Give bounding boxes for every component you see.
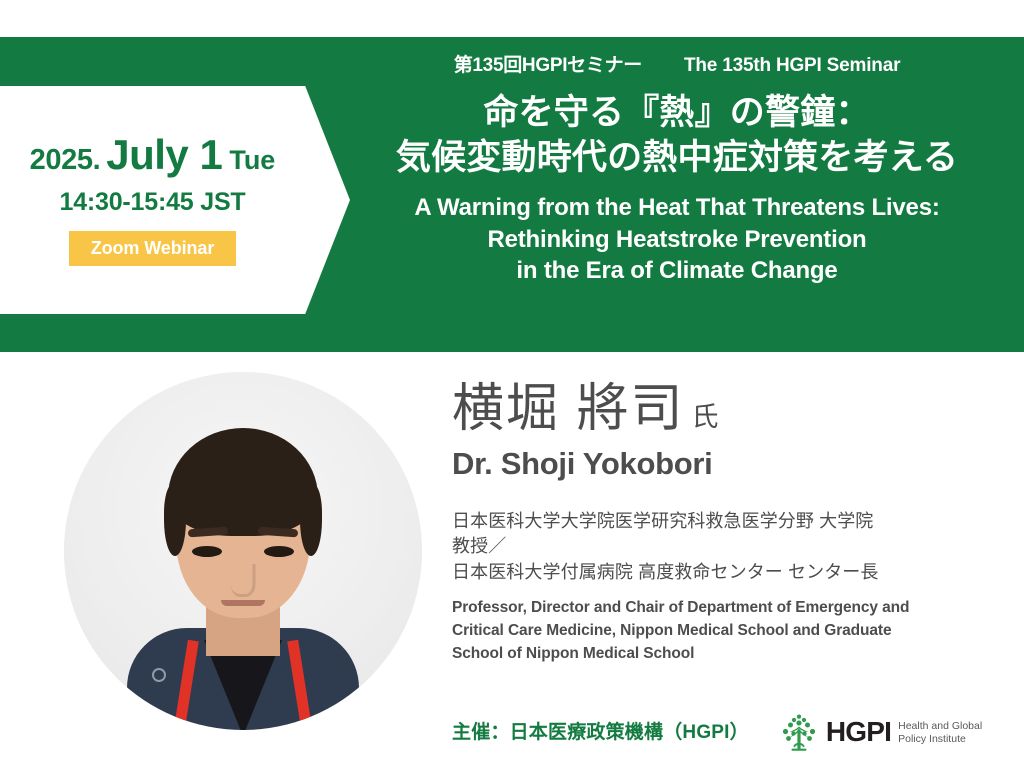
title-ja-line-2: 気候変動時代の熱中症対策を考える: [396, 136, 958, 181]
event-day-of-week: Tue: [222, 145, 275, 175]
hgpi-tagline: Health and Global Policy Institute: [898, 719, 982, 746]
seminar-title-group: 第135回HGPIセミナー The 135th HGPI Seminar 命を守…: [352, 37, 1002, 352]
tree-icon: [779, 712, 819, 752]
header-banner: 2025.July 1Tue 14:30-15:45 JST Zoom Webi…: [0, 37, 1024, 352]
speaker-section: 横堀 將司氏 Dr. Shoji Yokobori 日本医科大学大学院医学研究科…: [0, 352, 1024, 768]
speaker-portrait: [64, 372, 422, 730]
speaker-affiliation-japanese: 日本医科大学大学院医学研究科救急医学分野 大学院 教授／ 日本医科大学付属病院 …: [452, 509, 1012, 586]
date-callout-shape: 2025.July 1Tue 14:30-15:45 JST Zoom Webi…: [0, 86, 350, 314]
event-date: 2025.July 1Tue: [30, 134, 276, 176]
footer: 主催：日本医療政策機構（HGPI）: [452, 712, 1024, 752]
hgpi-tagline-line-2: Policy Institute: [898, 733, 982, 746]
host-organization: 主催：日本医療政策機構（HGPI）: [452, 723, 749, 742]
speaker-name-english: Dr. Shoji Yokobori: [452, 447, 1012, 481]
seminar-number-en: The 135th HGPI Seminar: [684, 56, 900, 75]
affiliation-en-line-1: Professor, Director and Chair of Departm…: [452, 597, 1012, 620]
affiliation-en-line-2: Critical Care Medicine, Nippon Medical S…: [452, 620, 1012, 643]
title-en-line-3: in the Era of Climate Change: [414, 255, 939, 287]
title-japanese: 命を守る『熱』の警鐘： 気候変動時代の熱中症対策を考える: [396, 91, 958, 181]
event-month-day: July 1: [100, 131, 222, 178]
speaker-details: 横堀 將司氏 Dr. Shoji Yokobori 日本医科大学大学院医学研究科…: [452, 382, 1012, 666]
hgpi-tagline-line-1: Health and Global: [898, 720, 982, 733]
speaker-name-honorific: 氏: [684, 402, 718, 432]
title-english: A Warning from the Heat That Threatens L…: [414, 192, 939, 288]
portrait-mouth: [221, 600, 265, 606]
affiliation-ja-line-2: 教授／: [452, 534, 1012, 560]
speaker-name-ja-text: 横堀 將司: [452, 380, 684, 438]
date-block: 2025.July 1Tue 14:30-15:45 JST Zoom Webi…: [0, 86, 305, 314]
portrait-nose: [231, 564, 256, 597]
affiliation-ja-line-1: 日本医科大学大学院医学研究科救急医学分野 大学院: [452, 509, 1012, 535]
hgpi-wordmark: HGPI: [826, 718, 891, 746]
portrait-eye-right: [264, 546, 294, 557]
seminar-number-line: 第135回HGPIセミナー The 135th HGPI Seminar: [454, 56, 901, 75]
speaker-affiliation-english: Professor, Director and Chair of Departm…: [452, 597, 1012, 666]
title-en-line-1: A Warning from the Heat That Threatens L…: [414, 192, 939, 224]
hgpi-logo: HGPI Health and Global Policy Institute: [779, 712, 982, 752]
zoom-webinar-badge: Zoom Webinar: [69, 231, 236, 266]
affiliation-en-line-3: School of Nippon Medical School: [452, 643, 1012, 666]
event-time: 14:30-15:45 JST: [59, 190, 245, 215]
portrait-eye-left: [192, 546, 222, 557]
title-ja-line-1: 命を守る『熱』の警鐘：: [396, 91, 958, 136]
event-year: 2025.: [30, 144, 101, 176]
title-en-line-2: Rethinking Heatstroke Prevention: [414, 224, 939, 256]
affiliation-ja-line-3: 日本医科大学付属病院 高度救命センター センター長: [452, 560, 1012, 586]
seminar-number-ja: 第135回HGPIセミナー: [454, 56, 642, 75]
portrait-collar-button: [152, 668, 166, 682]
speaker-name-japanese: 横堀 將司氏: [452, 382, 1012, 437]
